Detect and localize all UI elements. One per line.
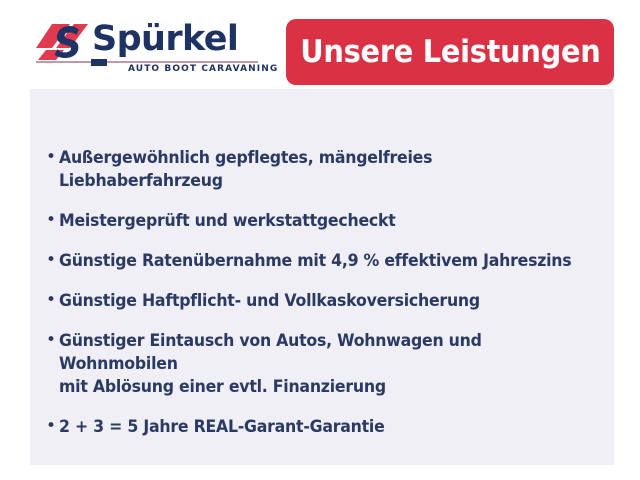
- bullet-icon: •: [46, 329, 59, 352]
- brand-rule-divider: [36, 61, 258, 63]
- content-panel: • Außergewöhnlich gepflegtes, mängelfrei…: [30, 89, 614, 465]
- bullet-icon: •: [46, 415, 59, 438]
- list-item: • 2 + 3 = 5 Jahre REAL-Garant-Garantie: [46, 415, 604, 438]
- bullet-icon: •: [46, 249, 59, 272]
- list-item-label: Außergewöhnlich gepflegtes, mängelfreies…: [59, 146, 579, 192]
- header: Spürkel AUTO BOOT CARAVANING Unsere Leis…: [0, 0, 640, 89]
- list-item: • Außergewöhnlich gepflegtes, mängelfrei…: [46, 146, 604, 192]
- list-item-label: Meistergeprüft und werkstattgecheckt: [59, 209, 396, 232]
- list-item-label: Günstige Haftpflicht- und Vollkaskoversi…: [59, 289, 480, 312]
- brand-logo: Spürkel AUTO BOOT CARAVANING: [36, 18, 258, 80]
- bullet-icon: •: [46, 146, 59, 169]
- brand-tagline: AUTO BOOT CARAVANING: [128, 64, 278, 74]
- title-banner: Unsere Leistungen: [286, 19, 614, 85]
- slide-root: Spürkel AUTO BOOT CARAVANING Unsere Leis…: [0, 0, 640, 480]
- list-item: • Günstige Ratenübernahme mit 4,9 % effe…: [46, 249, 604, 272]
- brand-wordmark: Spürkel: [92, 15, 238, 63]
- page-title: Unsere Leistungen: [300, 34, 600, 70]
- brand-rule-accent: [91, 59, 107, 66]
- list-item-label: Günstige Ratenübernahme mit 4,9 % effekt…: [59, 249, 571, 272]
- bullet-icon: •: [46, 209, 59, 232]
- list-item-label: Günstiger Eintausch von Autos, Wohnwagen…: [59, 329, 579, 398]
- list-item: • Meistergeprüft und werkstattgecheckt: [46, 209, 604, 232]
- spuerkel-arrow-s-mark-icon: [36, 22, 88, 62]
- services-list: • Außergewöhnlich gepflegtes, mängelfrei…: [46, 146, 604, 455]
- list-item-label: 2 + 3 = 5 Jahre REAL-Garant-Garantie: [59, 415, 385, 438]
- list-item: • Günstiger Eintausch von Autos, Wohnwag…: [46, 329, 604, 398]
- list-item: • Günstige Haftpflicht- und Vollkaskover…: [46, 289, 604, 312]
- bullet-icon: •: [46, 289, 59, 312]
